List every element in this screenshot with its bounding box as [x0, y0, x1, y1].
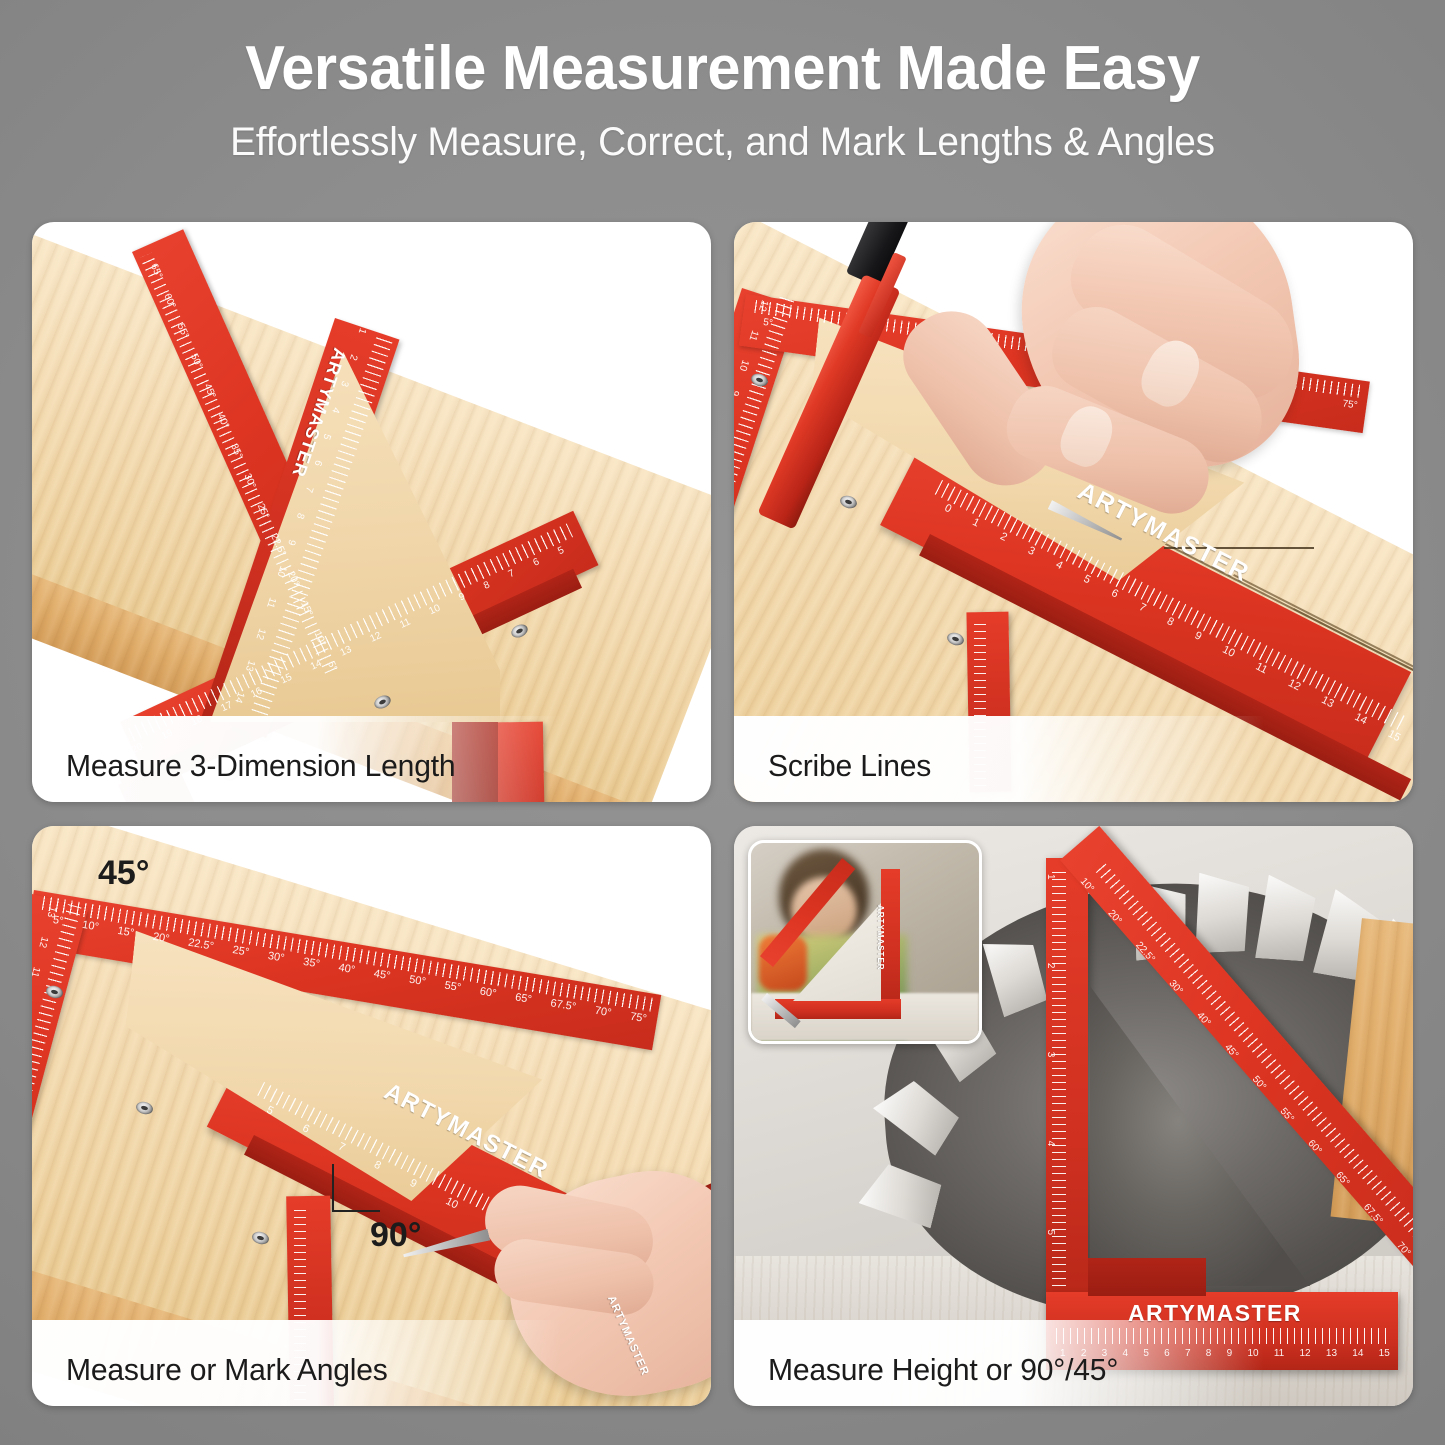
- panel-measure-height[interactable]: 1 2 3 4 5 6 10° 20° 22.5° 30° 40° 45° 50…: [734, 826, 1413, 1406]
- angle-label-90: 90°: [370, 1216, 421, 1255]
- feature-panel-grid: 5° 10° 15° 20° 22.5° 25° 30° 35° 40° 45°…: [32, 222, 1413, 1418]
- header-block: Versatile Measurement Made Easy Effortle…: [0, 0, 1445, 165]
- page-subtitle: Effortlessly Measure, Correct, and Mark …: [22, 120, 1424, 165]
- scene-measure-height: 1 2 3 4 5 6 10° 20° 22.5° 30° 40° 45° 50…: [734, 826, 1413, 1406]
- panel-measure-3d-length[interactable]: 5° 10° 15° 20° 22.5° 25° 30° 35° 40° 45°…: [32, 222, 711, 802]
- panel-caption-1: Measure 3-Dimension Length: [66, 748, 455, 784]
- tool-fence-lip: [966, 612, 1011, 793]
- scene-scribe-lines: 0 1 2 3 4 5 6 7 8 9 10 11 12 5° 10° 15°: [734, 222, 1413, 802]
- page-title: Versatile Measurement Made Easy: [29, 38, 1416, 100]
- panel-caption-2: Scribe Lines: [768, 748, 931, 784]
- inset-brand-logo: ARTYMASTER: [876, 905, 885, 971]
- panel-scribe-lines[interactable]: 0 1 2 3 4 5 6 7 8 9 10 11 12 5° 10° 15°: [734, 222, 1413, 802]
- tool-fence-lip-edge: [452, 708, 498, 802]
- scene-measure-3d-length: 5° 10° 15° 20° 22.5° 25° 30° 35° 40° 45°…: [32, 222, 711, 802]
- panel-caption-4: Measure Height or 90°/45°: [768, 1352, 1118, 1388]
- scene-measure-mark-angles: 45° 90° 5° 10° 15° 20° 22.5° 25° 30° 35°…: [32, 826, 711, 1406]
- tool-fence-lip: [495, 722, 545, 802]
- panel-measure-mark-angles[interactable]: 45° 90° 5° 10° 15° 20° 22.5° 25° 30° 35°…: [32, 826, 711, 1406]
- tool-vertical-arm: [1046, 858, 1088, 1338]
- panel-caption-3: Measure or Mark Angles: [66, 1352, 388, 1388]
- inset-thumbnail[interactable]: ARTYMASTER: [748, 840, 982, 1044]
- right-angle-marker: [332, 1164, 380, 1212]
- angle-label-45: 45°: [98, 854, 149, 893]
- brand-logo-panel4: ARTYMASTER: [1128, 1300, 1302, 1327]
- pencil-cap: [846, 222, 913, 287]
- tool-center-gusset: [1088, 1258, 1206, 1296]
